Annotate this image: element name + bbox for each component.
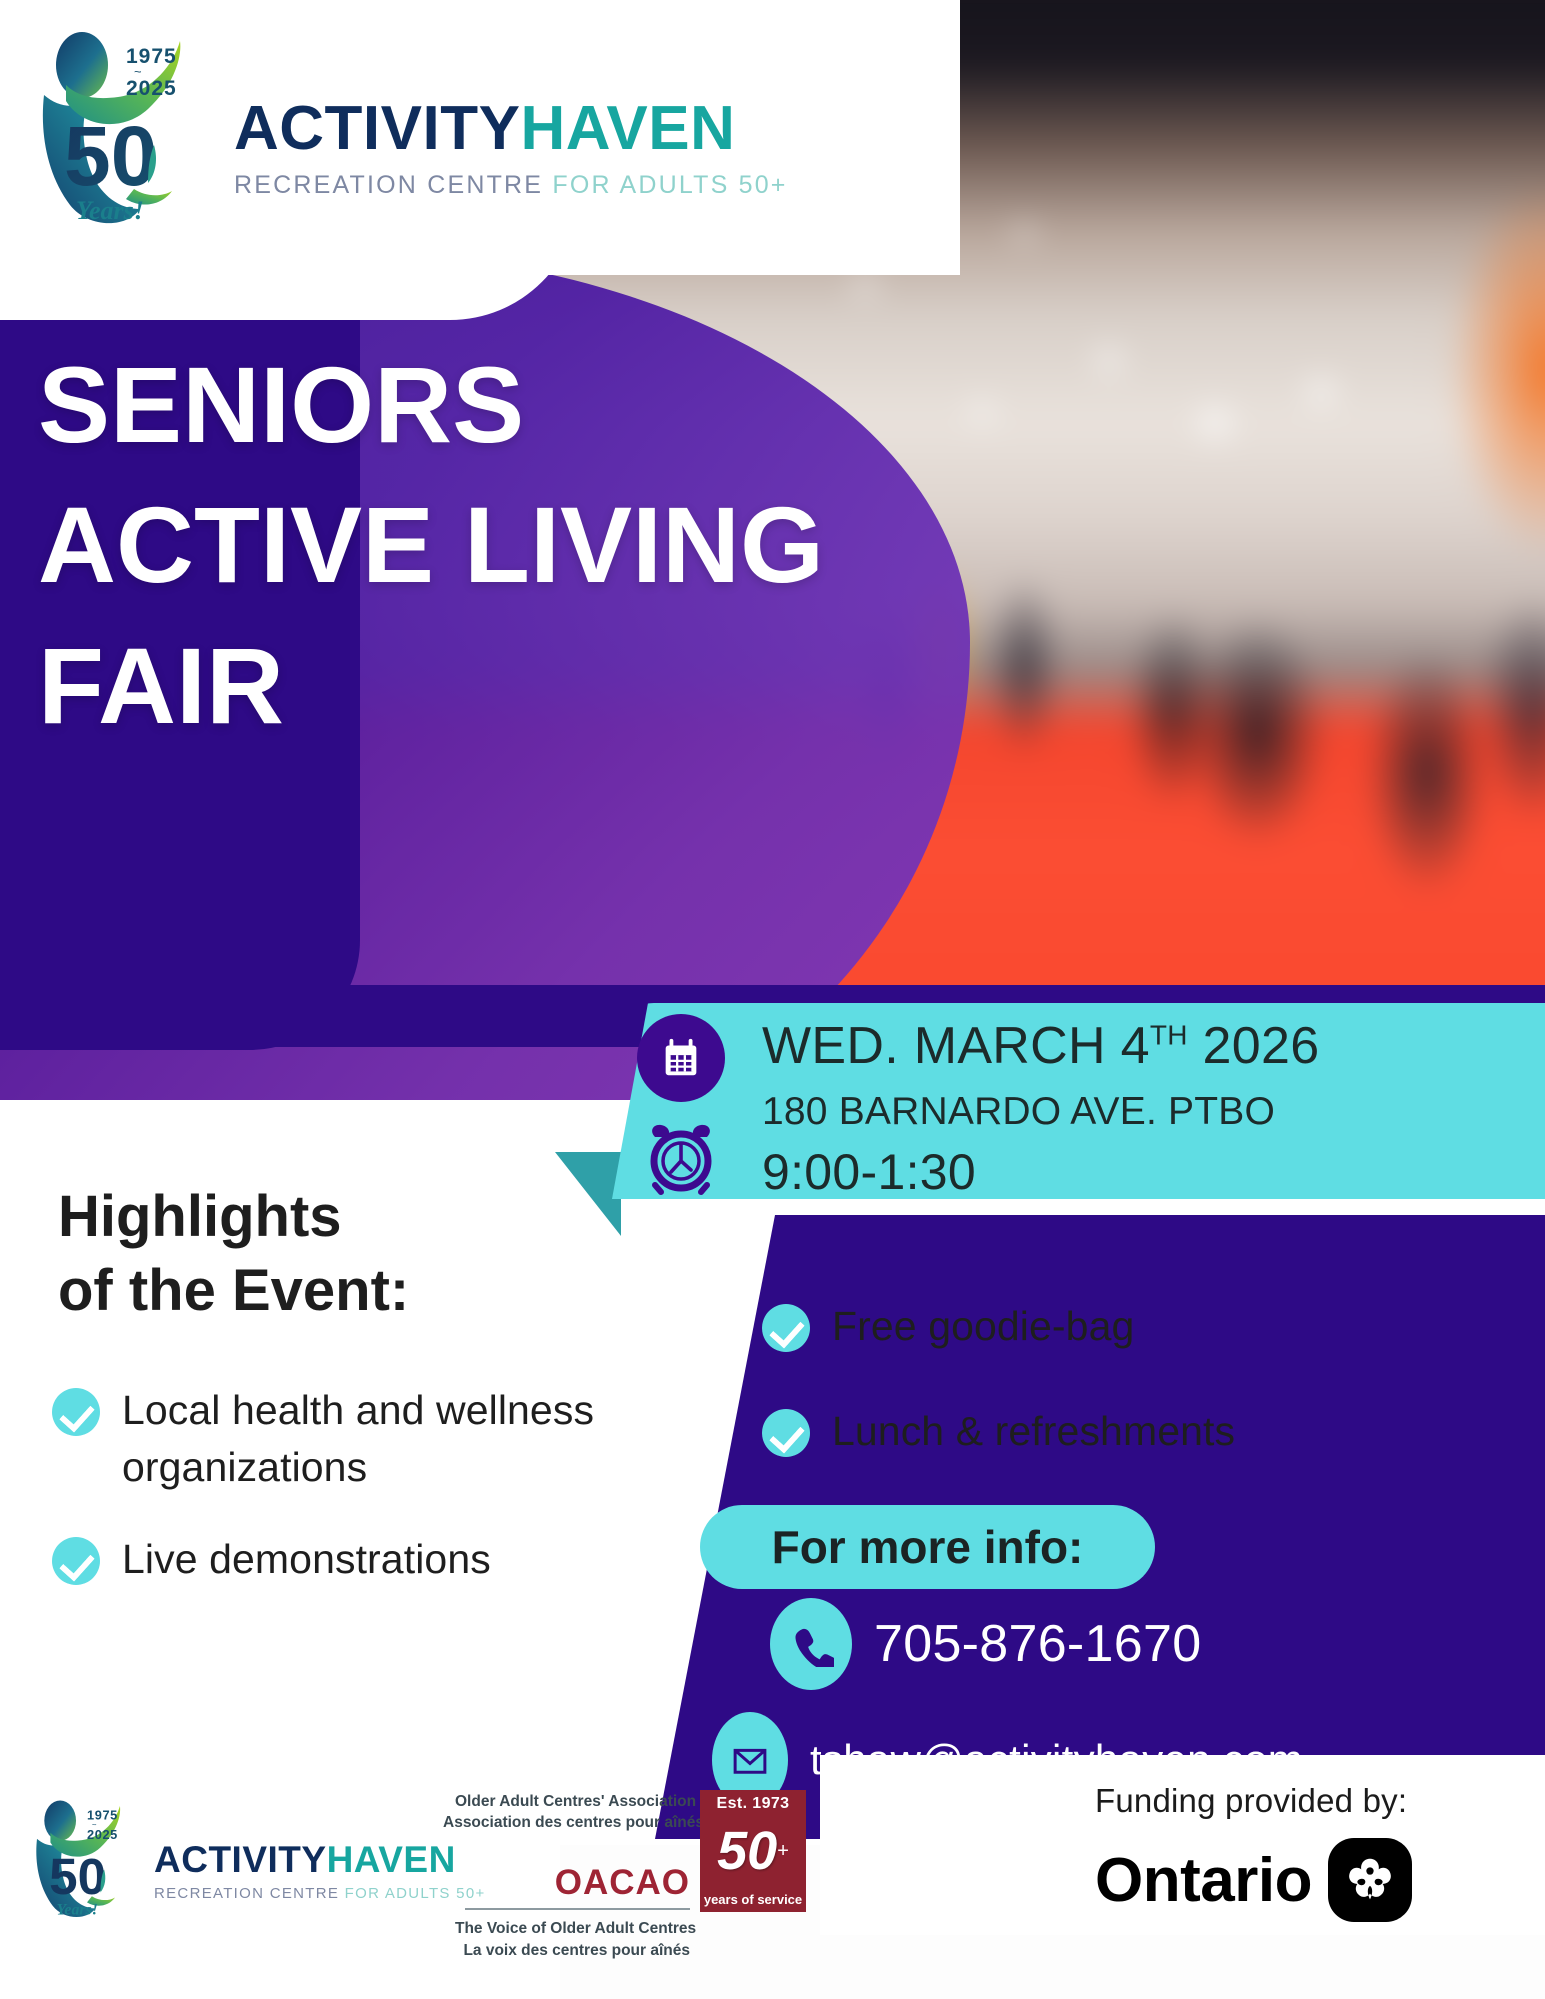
oacao-voice-fr: La voix des centres pour aînés bbox=[455, 1940, 690, 1962]
ontario-wordmark: Ontario bbox=[1095, 1845, 1312, 1916]
contact-phone-row[interactable]: 705-876-1670 bbox=[770, 1598, 1201, 1690]
logo-wordmark-line: ACTIVITYHAVEN bbox=[234, 98, 788, 160]
logo-word-activity: ACTIVITY bbox=[234, 94, 520, 163]
highlights-heading: Highlights of the Event: bbox=[58, 1180, 409, 1328]
event-time: 9:00-1:30 bbox=[762, 1143, 976, 1201]
list-item: Live demonstrations bbox=[52, 1531, 692, 1588]
list-item: Local health and wellness organizations bbox=[52, 1382, 692, 1495]
oacao-badge-plus: + bbox=[777, 1840, 789, 1863]
footer-logo-wordmark: ACTIVITYHAVEN RECREATION CENTRE FOR ADUL… bbox=[154, 1813, 486, 1902]
list-item-label: Lunch & refreshments bbox=[832, 1403, 1235, 1460]
oacao-badge-est: Est. 1973 bbox=[717, 1795, 790, 1813]
alarm-clock-icon bbox=[640, 1118, 722, 1200]
ontario-logo: Ontario bbox=[1095, 1838, 1412, 1922]
logo-wordmark: ACTIVITYHAVEN RECREATION CENTRE FOR ADUL… bbox=[234, 52, 788, 200]
list-item-label: Local health and wellness organizations bbox=[122, 1382, 692, 1495]
svg-text:2025: 2025 bbox=[126, 77, 177, 100]
activity-haven-logo: 1975 ~ 2025 50 Years! ACTIVITYHAVEN RECR… bbox=[30, 18, 770, 233]
oacao-badge-years: years of service bbox=[700, 1892, 806, 1907]
event-address: 180 BARNARDO AVE. PTBO bbox=[762, 1090, 1275, 1134]
oacao-name-en: Older Adult Centres' Association of Onta… bbox=[455, 1792, 690, 1813]
contact-phone-number: 705-876-1670 bbox=[874, 1614, 1201, 1674]
logo-tagline-part-2: FOR ADULTS 50+ bbox=[552, 171, 787, 199]
footer-activity-haven-logo: 1975 ~ 2025 50 Years! ACTIVITYHAVEN RECR… bbox=[28, 1795, 486, 1920]
oacao-voice-en: The Voice of Older Adult Centres bbox=[455, 1918, 690, 1940]
highlights-heading-line-2: of the Event: bbox=[58, 1254, 409, 1328]
oacao-badge-numeral: 50 bbox=[717, 1824, 777, 1878]
activity-haven-50-years-logo-icon: 1975 ~ 2025 50 Years! bbox=[28, 1795, 146, 1920]
highlights-list-left: Local health and wellness organizations … bbox=[52, 1382, 692, 1624]
poster-title-line-1: SENIORS bbox=[38, 335, 824, 475]
list-item: Lunch & refreshments bbox=[762, 1403, 1522, 1460]
list-item-label: Live demonstrations bbox=[122, 1531, 491, 1588]
event-date: WED. MARCH 4TH 2026 bbox=[762, 1016, 1319, 1076]
list-item-label: Free goodie-bag bbox=[832, 1298, 1134, 1355]
phone-icon bbox=[770, 1598, 852, 1690]
svg-text:50: 50 bbox=[49, 1848, 106, 1905]
event-date-year: 2026 bbox=[1203, 1017, 1320, 1075]
ontario-trillium-icon bbox=[1328, 1838, 1412, 1922]
for-more-info-label: For more info: bbox=[772, 1520, 1084, 1574]
oacao-text-block: Older Adult Centres' Association of Onta… bbox=[455, 1790, 690, 1962]
footer-logo-word-activity: ACTIVITY bbox=[154, 1839, 327, 1880]
funding-label: Funding provided by: bbox=[1095, 1782, 1412, 1820]
svg-text:50: 50 bbox=[64, 109, 157, 203]
oacao-logo: Older Adult Centres' Association of Onta… bbox=[455, 1790, 806, 1962]
list-item: Free goodie-bag bbox=[762, 1298, 1522, 1355]
svg-text:Years!: Years! bbox=[57, 1902, 98, 1919]
for-more-info-badge: For more info: bbox=[700, 1505, 1155, 1589]
event-date-text: WED. MARCH 4 bbox=[762, 1017, 1150, 1075]
footer-logo-tagline-part-1: RECREATION CENTRE bbox=[154, 1885, 339, 1902]
check-icon bbox=[52, 1388, 100, 1436]
activity-haven-50-years-logo-icon: 1975 ~ 2025 50 Years! bbox=[30, 23, 222, 228]
oacao-badge-numeral-wrap: 50+ bbox=[700, 1814, 806, 1888]
poster-canvas: 1975 ~ 2025 50 Years! ACTIVITYHAVEN RECR… bbox=[0, 0, 1545, 1999]
footer-logo-tagline: RECREATION CENTRE FOR ADULTS 50+ bbox=[154, 1885, 486, 1902]
ribbon-fold-shape bbox=[555, 1152, 621, 1236]
logo-word-haven: HAVEN bbox=[520, 94, 735, 163]
oacao-acronym: OACAO bbox=[455, 1863, 690, 1903]
oacao-divider bbox=[465, 1908, 690, 1910]
oacao-50-years-badge-icon: Est. 1973 50+ years of service bbox=[700, 1790, 806, 1912]
check-icon bbox=[762, 1409, 810, 1457]
funding-block: Funding provided by: Ontario bbox=[1095, 1782, 1412, 1922]
svg-text:2025: 2025 bbox=[87, 1827, 118, 1842]
check-icon bbox=[52, 1537, 100, 1585]
highlights-heading-line-1: Highlights bbox=[58, 1180, 409, 1254]
oacao-name-fr: Association des centres pour aînés de l'… bbox=[443, 1813, 690, 1834]
footer-logo-word-haven: HAVEN bbox=[327, 1839, 456, 1880]
footer-logo-wordmark-line: ACTIVITYHAVEN bbox=[154, 1841, 486, 1878]
event-date-ordinal: TH bbox=[1150, 1020, 1188, 1051]
poster-title: SENIORS ACTIVE LIVING FAIR bbox=[38, 335, 824, 756]
poster-title-line-2: ACTIVE LIVING bbox=[38, 475, 824, 615]
contact-email-address: tshaw@activityhaven.com bbox=[810, 1736, 1303, 1784]
logo-tagline-part-1: RECREATION CENTRE bbox=[234, 171, 543, 199]
logo-tagline: RECREATION CENTRE FOR ADULTS 50+ bbox=[234, 171, 788, 200]
svg-text:Years!: Years! bbox=[76, 196, 144, 225]
poster-title-line-3: FAIR bbox=[38, 616, 824, 756]
calendar-icon bbox=[637, 1014, 725, 1102]
highlights-list-right: Free goodie-bag Lunch & refreshments bbox=[762, 1298, 1522, 1507]
check-icon bbox=[762, 1304, 810, 1352]
